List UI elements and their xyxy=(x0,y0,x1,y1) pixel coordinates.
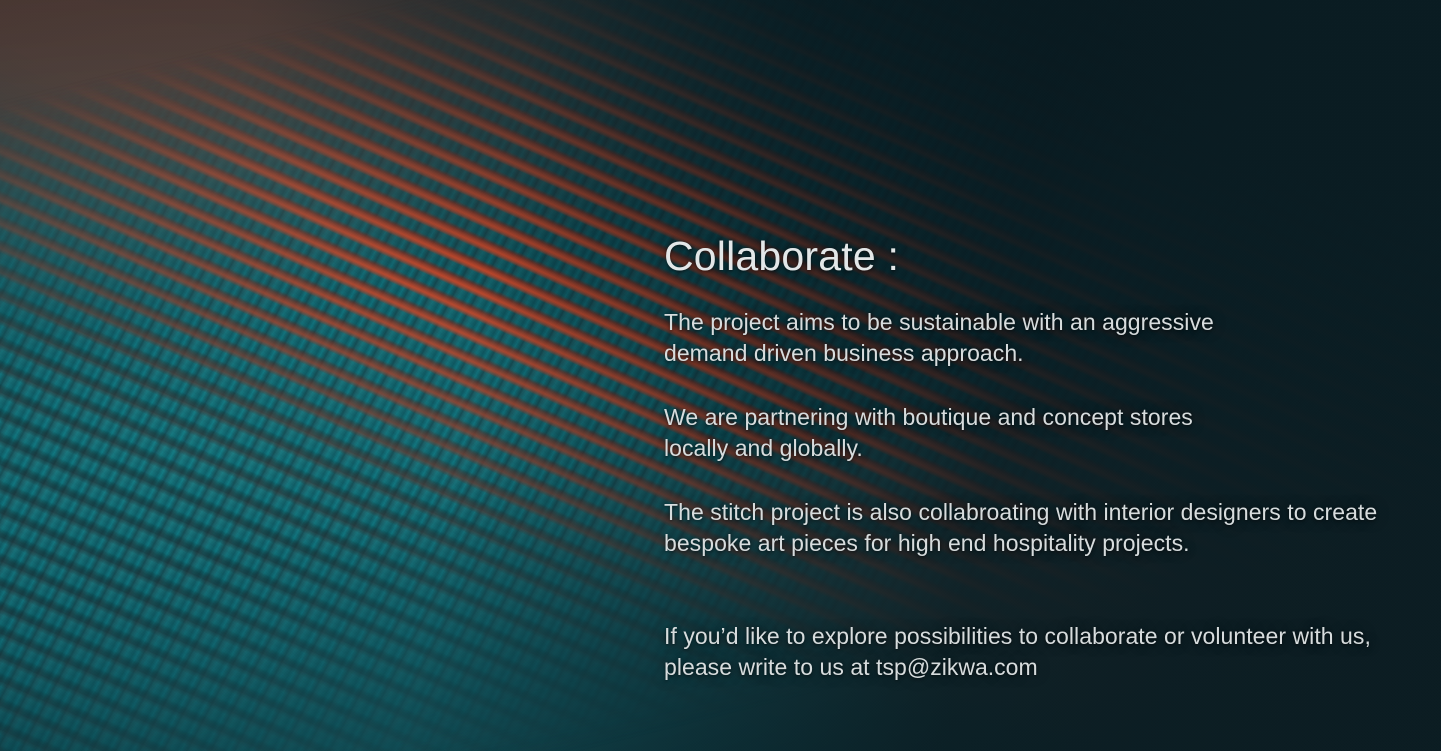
paragraph-line: The project aims to be sustainable with … xyxy=(664,307,1424,338)
page-title: Collaborate : xyxy=(664,236,1424,277)
paragraph-sustainability: The project aims to be sustainable with … xyxy=(664,307,1424,369)
paragraph-partners: We are partnering with boutique and conc… xyxy=(664,402,1424,464)
paragraph-interiors: The stitch project is also collabroating… xyxy=(664,497,1424,559)
paragraph-line: demand driven business approach. xyxy=(664,338,1424,369)
paragraph-line: locally and globally. xyxy=(664,433,1424,464)
paragraph-line: The stitch project is also collabroating… xyxy=(664,497,1424,528)
collaborate-slide: Collaborate : The project aims to be sus… xyxy=(0,0,1441,751)
copy-block: Collaborate : The project aims to be sus… xyxy=(664,236,1424,683)
paragraph-contact: If you’d like to explore possibilities t… xyxy=(664,621,1424,683)
paragraph-line: We are partnering with boutique and conc… xyxy=(664,402,1424,433)
contact-email-prefix: please write to us at tsp@ xyxy=(664,654,930,680)
contact-invitation-line: If you’d like to explore possibilities t… xyxy=(664,621,1424,652)
contact-email-line: please write to us at tsp@zikwa.com xyxy=(664,652,1424,683)
contact-email-domain: zikwa.com xyxy=(930,654,1037,680)
paragraph-line: bespoke art pieces for high end hospital… xyxy=(664,528,1424,559)
